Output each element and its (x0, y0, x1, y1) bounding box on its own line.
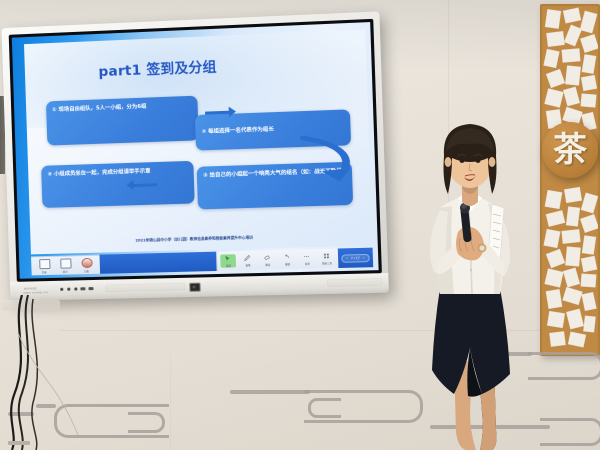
toolbar-right-group[interactable]: ‹ 7 / 17 › (338, 248, 374, 268)
toolbar-left-group[interactable]: 目录 批注 白板 (31, 255, 100, 276)
toolbar-item-annotate[interactable]: 批注 (57, 258, 74, 273)
pen-icon (243, 254, 252, 262)
cloud-motif (128, 412, 165, 433)
tool-select[interactable]: 选择 (220, 254, 236, 268)
board-brand-label: MAXHUB (24, 287, 36, 290)
toolbar-item-label: 白板 (84, 269, 89, 273)
tool-label: 快捷工具 (322, 261, 332, 265)
tool-undo[interactable]: 撤销 (279, 253, 295, 267)
chevron-left-icon[interactable]: ‹ (346, 256, 348, 260)
page-indicator: 7 / 17 (351, 256, 360, 260)
board-speaker-grille-left (106, 283, 186, 292)
more-icon (303, 252, 312, 260)
list-icon (39, 258, 50, 268)
tea-character: 茶 (553, 133, 587, 167)
hanging-cables (0, 295, 120, 450)
toolbar-item-contents[interactable]: 目录 (36, 258, 53, 273)
board-speaker-grille-right (327, 278, 382, 286)
board-frame: part1 签到及分组 ① 现场自由组队，5人一小组，分为6组 ② 每组选择一名… (1, 11, 388, 301)
tool-label: 更多 (305, 262, 310, 266)
tool-pen[interactable]: 画笔 (240, 254, 256, 268)
interactive-whiteboard[interactable]: part1 签到及分组 ① 现场自由组队，5人一小组，分为6组 ② 每组选择一名… (1, 11, 388, 301)
undo-icon (283, 253, 292, 261)
board-menu-button[interactable] (67, 288, 70, 291)
toolbar-item-label: 目录 (42, 270, 47, 274)
board-usb-port[interactable] (80, 287, 85, 291)
photo-scene: 茶 part1 签到及分组 ① 现场自由组队，5人一小组，分为6组 ② 每组选择… (0, 0, 600, 450)
cloud-motif (308, 398, 341, 418)
board-model-label: SMART INTERACTIVE (23, 292, 48, 295)
tool-label: 橡皮 (265, 263, 270, 267)
toolbar-center-strip: 选择 画笔 (99, 249, 338, 274)
annotate-icon (60, 258, 71, 268)
tea-lattice-panel (540, 4, 600, 356)
flow-step-1: ① 现场自由组队，5人一小组，分为6组 (46, 95, 199, 145)
presentation-slide[interactable]: part1 签到及分组 ① 现场自由组队，5人一小组，分为6组 ② 每组选择一名… (24, 29, 372, 254)
cloud-motif (540, 418, 600, 446)
eraser-icon (263, 253, 272, 261)
tool-quick-tools[interactable]: 快捷工具 (319, 252, 335, 266)
page-navigator[interactable]: ‹ 7 / 17 › (341, 253, 370, 262)
tea-medallion: 茶 (542, 122, 598, 178)
board-volume-button[interactable] (74, 287, 77, 290)
presenter-speaker (396, 112, 546, 450)
board-screen[interactable]: part1 签到及分组 ① 现场自由组队，5人一小组，分为6组 ② 每组选择一名… (12, 22, 379, 279)
cloud-motif-line (230, 390, 310, 394)
slide-footer-text: 2021年砀山县中小学（幼儿园）教师信息素养和智能素养提升中心培训 (31, 232, 362, 246)
tool-label: 画笔 (245, 263, 250, 267)
flow-step-4: ④ 小组成员坐在一起，完成分组请举手示意 (41, 161, 194, 208)
grid-icon (322, 252, 331, 260)
palette-icon (81, 257, 92, 267)
flow-arrow-step2-to-step3 (292, 131, 371, 190)
wall-seam (170, 355, 171, 450)
cursor-icon (224, 254, 233, 262)
tool-label: 撤销 (285, 262, 290, 266)
board-camera (189, 283, 201, 292)
toolbar-item-whiteboard[interactable]: 白板 (78, 257, 95, 272)
tool-more[interactable]: 更多 (299, 252, 315, 266)
toolbar-item-label: 批注 (63, 269, 68, 273)
board-hdmi-port[interactable] (88, 287, 93, 291)
pen-tool-group[interactable]: 选择 画笔 (216, 249, 338, 271)
chevron-right-icon[interactable]: › (363, 256, 365, 260)
tool-label: 选择 (226, 264, 231, 268)
board-power-button[interactable] (60, 288, 63, 291)
tool-eraser[interactable]: 橡皮 (259, 253, 275, 267)
